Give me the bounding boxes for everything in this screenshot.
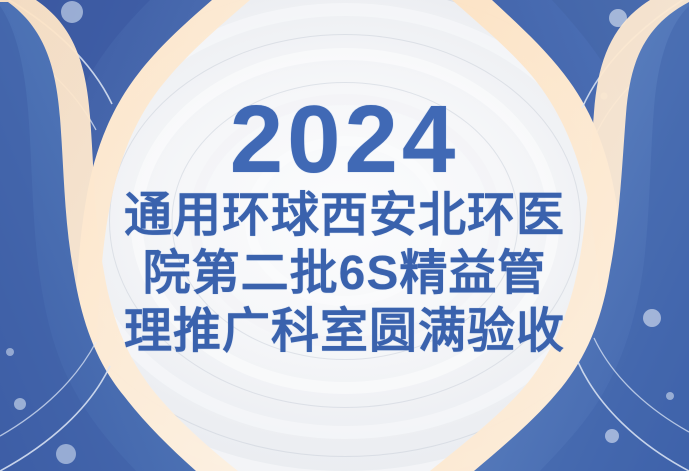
headline-line-3: 理推广科室圆满验收 bbox=[124, 308, 565, 357]
poster-text-block: 2024 通用环球西安北环医 院第二批6S精益管 理推广科室圆满验收 bbox=[0, 0, 689, 471]
headline-line-2: 院第二批6S精益管 bbox=[143, 250, 547, 299]
poster-headline: 通用环球西安北环医 院第二批6S精益管 理推广科室圆满验收 bbox=[124, 192, 565, 357]
poster-year: 2024 bbox=[230, 96, 460, 184]
headline-line-1: 通用环球西安北环医 bbox=[124, 192, 565, 241]
poster-canvas: 2024 通用环球西安北环医 院第二批6S精益管 理推广科室圆满验收 bbox=[0, 0, 689, 471]
